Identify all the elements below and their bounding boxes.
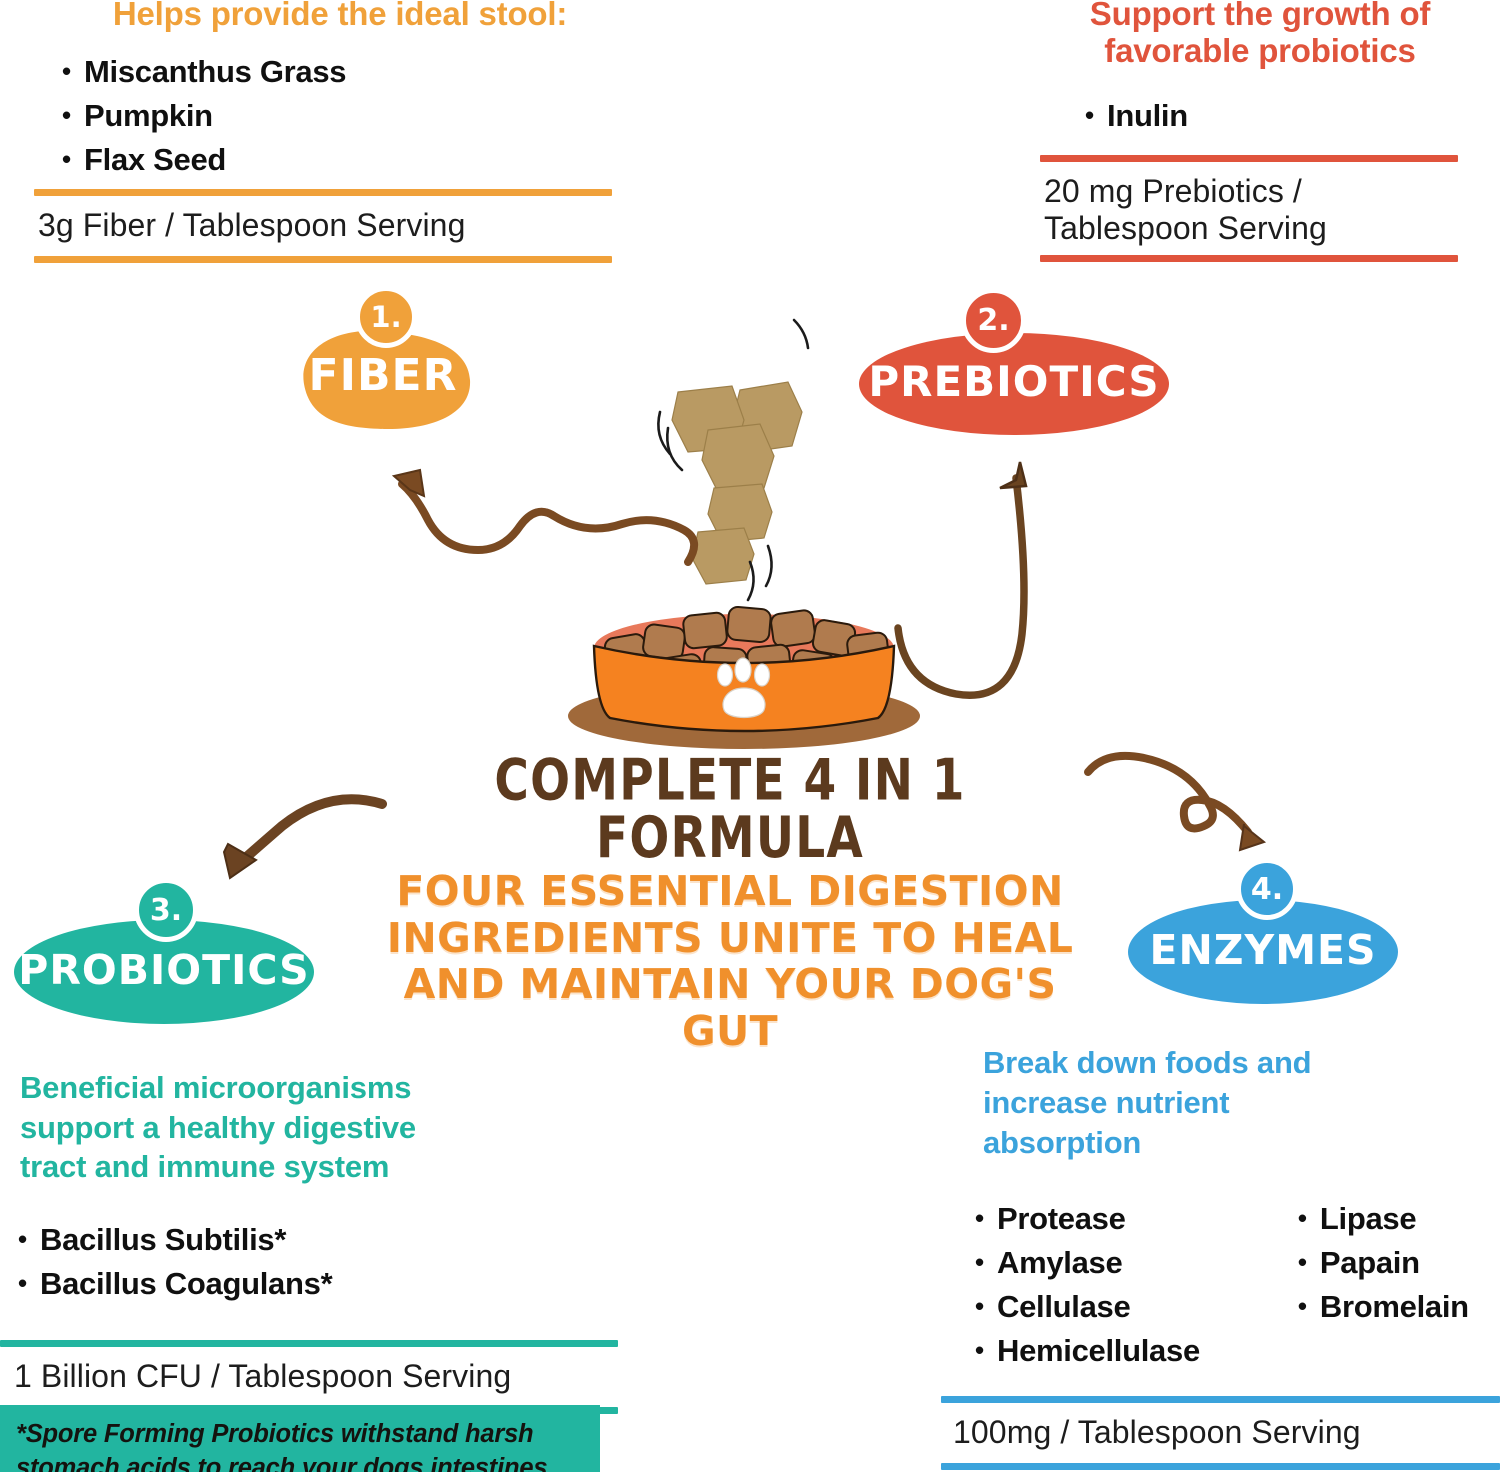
- hero-subtitle: FOUR ESSENTIAL DIGESTION INGREDIENTS UNI…: [360, 868, 1100, 1055]
- list-item: Papain: [1298, 1241, 1469, 1285]
- probiotics-footnote: *Spore Forming Probiotics withstand hars…: [0, 1405, 600, 1472]
- list-item: Pumpkin: [62, 94, 346, 138]
- fiber-badge-label: FIBER: [292, 350, 474, 401]
- list-item: Bacillus Coagulans*: [18, 1262, 332, 1306]
- prebiotics-step-number-text: 2.: [977, 303, 1009, 338]
- prebiotics-dose-block: 20 mg Prebiotics / Tablespoon Serving: [1040, 155, 1458, 262]
- enzymes-heading: Break down foods and increase nutrient a…: [983, 1043, 1483, 1163]
- list-item: Cellulase: [975, 1285, 1200, 1329]
- enzymes-heading-line-1: Break down foods and: [983, 1043, 1483, 1083]
- badge-prebiotics[interactable]: PREBIOTICS: [859, 333, 1169, 435]
- enzymes-step-number-text: 4.: [1251, 872, 1283, 907]
- enzymes-heading-line-3: absorption: [983, 1123, 1483, 1163]
- list-item: Inulin: [1085, 94, 1188, 138]
- enzymes-bullet-list-col2: Lipase Papain Bromelain: [1298, 1197, 1469, 1373]
- enzymes-bullet-columns: Protease Amylase Cellulase Hemicellulase…: [975, 1197, 1469, 1373]
- list-item: Hemicellulase: [975, 1329, 1200, 1373]
- prebiotics-dose-line-1: 20 mg Prebiotics /: [1044, 173, 1454, 210]
- probiotics-heading-line-1: Beneficial microorganisms: [20, 1068, 580, 1108]
- prebiotics-heading-line-1: Support the growth of: [1040, 0, 1480, 33]
- probiotics-dose-block: 1 Billion CFU / Tablespoon Serving: [0, 1340, 618, 1414]
- page-title: COMPLETE 4 IN 1 FORMULA: [360, 752, 1100, 867]
- probiotics-heading-line-3: tract and immune system: [20, 1147, 580, 1187]
- divider-bottom: [941, 1463, 1500, 1470]
- prebiotics-badge-label: PREBIOTICS: [859, 357, 1169, 406]
- list-item: Protease: [975, 1197, 1200, 1241]
- fiber-dose-text: 3g Fiber / Tablespoon Serving: [34, 196, 612, 256]
- dog-food-bowl: [548, 576, 938, 756]
- list-item: Bacillus Subtilis*: [18, 1218, 332, 1262]
- divider-bottom: [1040, 255, 1458, 262]
- probiotics-badge-label: PROBIOTICS: [14, 946, 314, 994]
- probiotics-bullet-list: Bacillus Subtilis* Bacillus Coagulans*: [18, 1218, 332, 1306]
- probiotics-step-number: 3.: [134, 878, 198, 942]
- divider-top: [941, 1396, 1500, 1403]
- prebiotics-bullet-list: Inulin: [1085, 94, 1188, 138]
- hero-subtitle-line-3: AND MAINTAIN YOUR DOG'S GUT: [360, 961, 1100, 1054]
- hero-text-block: COMPLETE 4 IN 1 FORMULA FOUR ESSENTIAL D…: [360, 752, 1100, 1055]
- enzymes-dose-block: 100mg / Tablespoon Serving: [941, 1396, 1500, 1470]
- probiotics-dose-text: 1 Billion CFU / Tablespoon Serving: [0, 1347, 618, 1407]
- list-item: Miscanthus Grass: [62, 50, 346, 94]
- hero-subtitle-line-2: INGREDIENTS UNITE TO HEAL: [360, 915, 1100, 962]
- probiotics-step-number-text: 3.: [150, 893, 182, 928]
- fiber-step-number-text: 1.: [370, 300, 401, 334]
- divider-top: [0, 1340, 618, 1347]
- divider-top: [1040, 155, 1458, 162]
- kibble-piece: [702, 424, 774, 492]
- motion-line: [794, 320, 808, 348]
- list-item: Flax Seed: [62, 138, 346, 182]
- list-item: Lipase: [1298, 1197, 1469, 1241]
- list-item: Amylase: [975, 1241, 1200, 1285]
- probiotics-heading-line-2: support a healthy digestive: [20, 1108, 580, 1148]
- divider-top: [34, 189, 612, 196]
- enzymes-step-number: 4.: [1236, 858, 1298, 920]
- fiber-dose-block: 3g Fiber / Tablespoon Serving: [34, 189, 612, 263]
- prebiotics-heading-line-2: favorable probiotics: [1040, 33, 1480, 70]
- fiber-heading: Helps provide the ideal stool:: [40, 0, 640, 33]
- prebiotics-step-number: 2.: [961, 288, 1026, 353]
- infographic-canvas: Helps provide the ideal stool: Miscanthu…: [0, 0, 1500, 1472]
- enzymes-heading-line-2: increase nutrient: [983, 1083, 1483, 1123]
- prebiotics-dose-block-text: 20 mg Prebiotics / Tablespoon Serving: [1040, 162, 1458, 255]
- enzymes-badge-label: ENZYMES: [1128, 926, 1398, 974]
- enzymes-bullet-list-col1: Protease Amylase Cellulase Hemicellulase: [975, 1197, 1200, 1373]
- fiber-step-number: 1.: [355, 286, 417, 348]
- probiotics-heading: Beneficial microorganisms support a heal…: [20, 1068, 580, 1187]
- prebiotics-dose-line-2: Tablespoon Serving: [1044, 210, 1454, 247]
- fiber-heading-text: Helps provide the ideal stool:: [40, 0, 640, 33]
- divider-bottom: [34, 256, 612, 263]
- fiber-bullet-list: Miscanthus Grass Pumpkin Flax Seed: [62, 50, 346, 182]
- prebiotics-heading: Support the growth of favorable probioti…: [1040, 0, 1480, 70]
- probiotics-footnote-line-1: *Spore Forming Probiotics withstand hars…: [16, 1418, 584, 1452]
- list-item: Bromelain: [1298, 1285, 1469, 1329]
- hero-subtitle-line-1: FOUR ESSENTIAL DIGESTION: [360, 868, 1100, 915]
- probiotics-footnote-line-2: stomach acids to reach your dogs intesti…: [16, 1452, 584, 1472]
- enzymes-dose-text: 100mg / Tablespoon Serving: [941, 1403, 1500, 1463]
